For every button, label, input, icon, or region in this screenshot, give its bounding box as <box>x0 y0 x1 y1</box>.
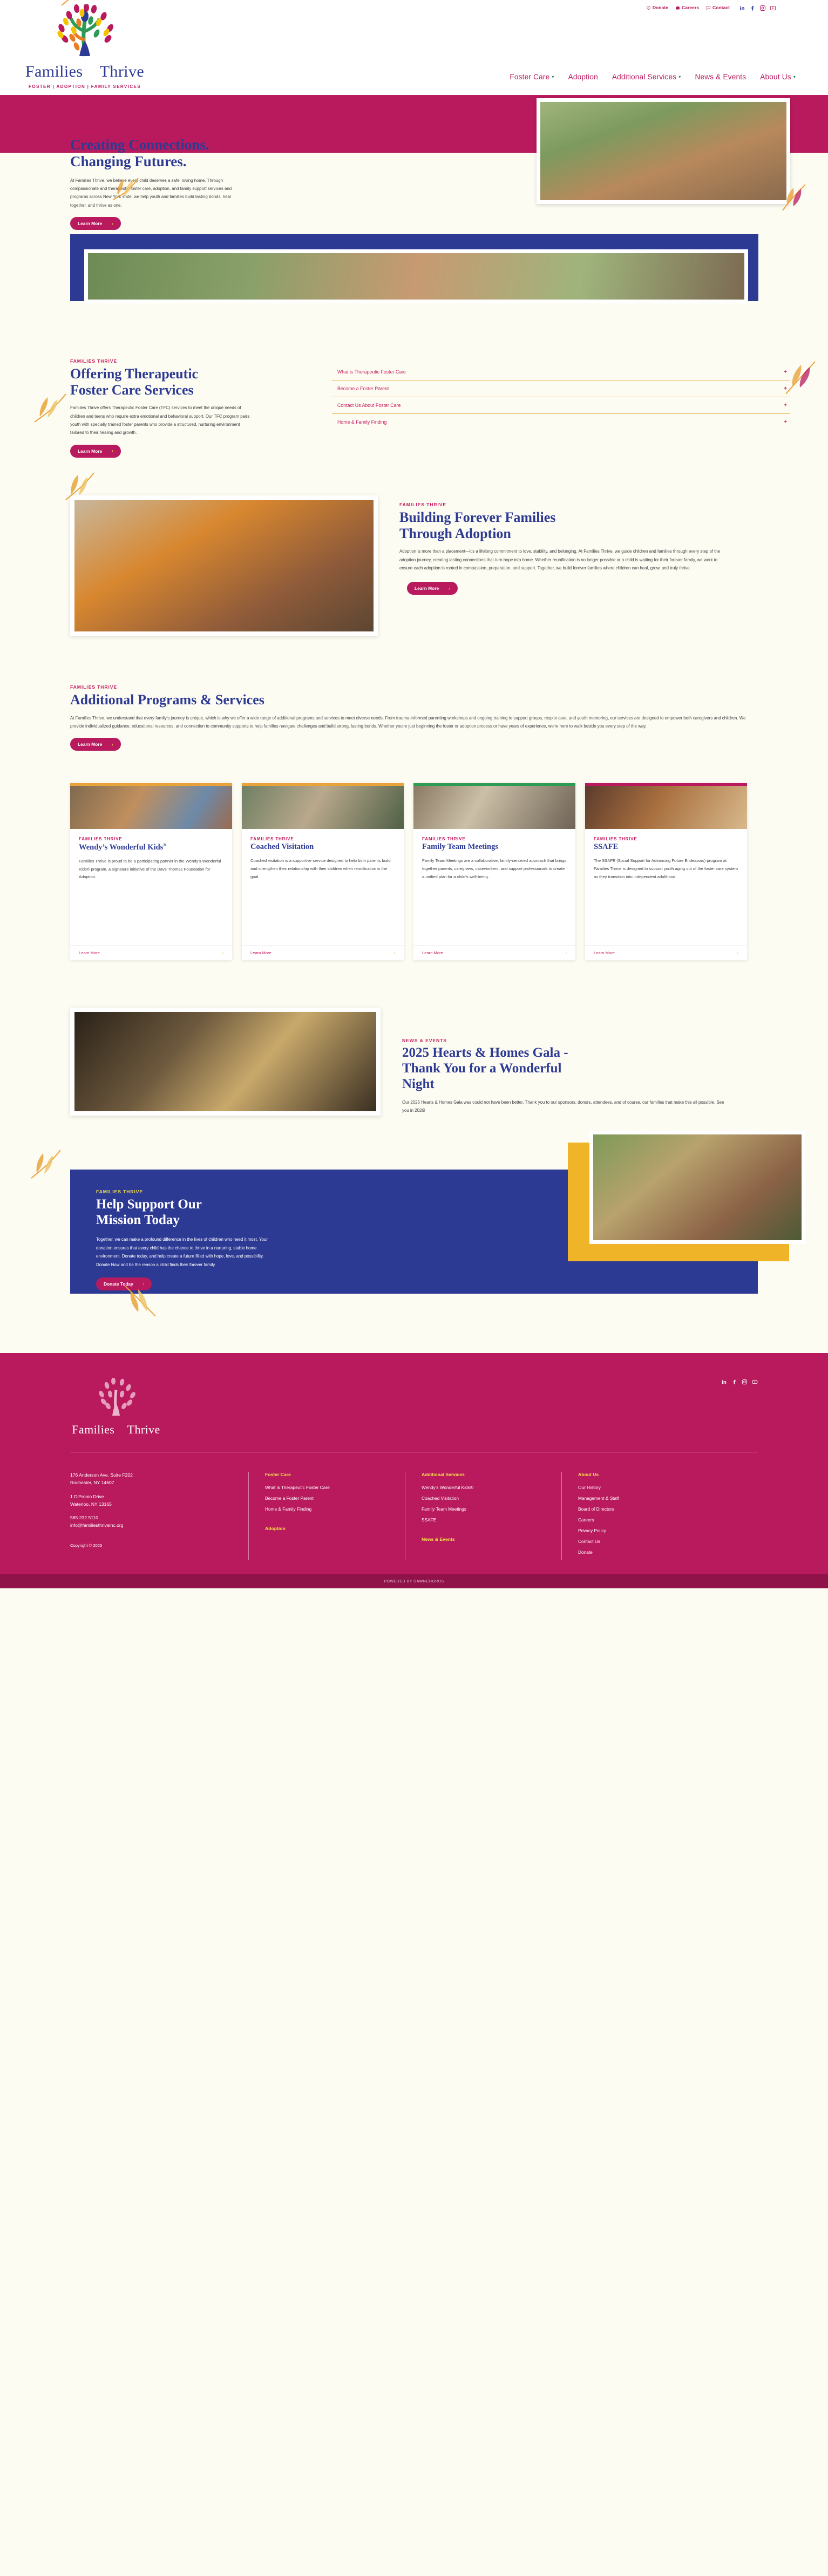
card-title: SSAFE <box>594 842 738 852</box>
card-title: Coached Visitation <box>250 842 395 852</box>
tree-logo-icon <box>70 1378 162 1420</box>
card-body: Family Team Meetings are a collaborative… <box>422 857 567 881</box>
hero-family-photo <box>540 102 786 200</box>
utility-link-donate[interactable]: Donate <box>646 5 668 10</box>
footer-attribution-bar: POWERED BY DAWNCHORUS <box>0 1574 828 1588</box>
card-body: Coached visitation is a supportive servi… <box>250 857 395 881</box>
adoption-title-line1: Building Forever Families <box>399 509 555 525</box>
leaf-decoration-icon <box>29 1148 65 1180</box>
gala-photo <box>74 1012 376 1111</box>
news-title-line3: Night <box>402 1077 435 1091</box>
tfc-copy: FAMILIES THRIVE Offering Therapeutic Fos… <box>0 358 310 458</box>
nav-label: Foster Care <box>510 73 549 81</box>
address-line-1: 176 Anderson Ave, Suite F202 <box>70 1472 248 1479</box>
plus-icon: + <box>784 385 787 392</box>
hero-title-line2: Changing Futures. <box>70 153 187 169</box>
nav-item-about-us[interactable]: About Us ▾ <box>760 73 796 81</box>
youtube-icon[interactable] <box>752 1378 758 1388</box>
card-title: Wendy’s Wonderful Kids® <box>79 842 223 852</box>
additional-programs-section: FAMILIES THRIVE Additional Programs & Se… <box>0 636 828 751</box>
button-label: Learn More <box>78 221 102 226</box>
hero-title-line1: Creating Connections. <box>70 137 209 153</box>
attribution-text: POWERED BY DAWNCHORUS <box>384 1580 444 1583</box>
site-logo[interactable]: Families Thrive FOSTER | ADOPTION | FAMI… <box>23 4 147 89</box>
adoption-body: Adoption is more than a placement—it's a… <box>399 547 723 572</box>
card-eyebrow: FAMILIES THRIVE <box>250 837 395 841</box>
footer-link-what-is-tfc[interactable]: What is Therapeutic Foster Care <box>265 1485 405 1490</box>
news-copy: NEWS & EVENTS 2025 Hearts & Homes Gala -… <box>402 1008 748 1116</box>
button-label: Donate Today <box>104 1281 133 1287</box>
footer-column-additional-services: Additional Services Wendy's Wonderful Ki… <box>405 1472 561 1560</box>
program-card-family-team-meetings[interactable]: FAMILIES THRIVE Family Team Meetings Fam… <box>413 783 575 960</box>
card-learn-more-link[interactable]: Learn More › <box>242 945 404 960</box>
donate-title-line1: Help Support Our <box>96 1197 202 1212</box>
program-card-ssafe[interactable]: FAMILIES THRIVE SSAFE The SSAFE (Social … <box>585 783 747 960</box>
adoption-copy: FAMILIES THRIVE Building Forever Familie… <box>399 495 745 636</box>
nav-item-news-events[interactable]: News & Events <box>695 73 746 81</box>
utility-label-careers: Careers <box>682 5 699 10</box>
footer-column-about-us: About Us Our History Management & Staff … <box>561 1472 718 1560</box>
social-links <box>739 4 776 11</box>
card-title: Family Team Meetings <box>422 842 567 852</box>
utility-link-careers[interactable]: Careers <box>675 5 699 10</box>
card-learn-more-link[interactable]: Learn More › <box>413 945 575 960</box>
card-title-text: SSAFE <box>594 842 618 851</box>
nav-item-foster-care[interactable]: Foster Care ▾ <box>510 73 554 81</box>
main-nav: Foster Care ▾ Adoption Additional Servic… <box>510 73 796 81</box>
chevron-right-icon: › <box>222 950 223 955</box>
adoption-title: Building Forever Families Through Adopti… <box>399 509 745 541</box>
card-learn-more-link[interactable]: Learn More › <box>585 945 747 960</box>
card-photo <box>585 786 747 829</box>
donate-image-frame <box>589 1131 805 1244</box>
tfc-title-line1: Offering Therapeutic <box>70 366 198 382</box>
card-learn-more-link[interactable]: Learn More › <box>70 945 232 960</box>
button-label: Learn More <box>415 586 439 591</box>
footer-heading-adoption[interactable]: Adoption <box>265 1526 405 1531</box>
footer-column-foster-care: Foster Care What is Therapeutic Foster C… <box>248 1472 405 1560</box>
briefcase-icon <box>675 5 680 10</box>
footer-heading-about-us[interactable]: About Us <box>578 1472 718 1477</box>
footer-link-privacy-policy[interactable]: Privacy Policy <box>578 1528 718 1533</box>
donate-copy: FAMILIES THRIVE Help Support Our Mission… <box>70 1170 394 1290</box>
footer-link-wendys-wonderful-kids[interactable]: Wendy's Wonderful Kids® <box>422 1485 561 1490</box>
additional-title: Additional Programs & Services <box>70 692 758 708</box>
footer-link-board-of-directors[interactable]: Board of Directors <box>578 1506 718 1512</box>
chevron-right-icon: › <box>112 448 113 453</box>
donate-eyebrow: FAMILIES THRIVE <box>96 1189 394 1194</box>
button-label: Learn More <box>78 448 102 454</box>
footer-heading-additional-services[interactable]: Additional Services <box>422 1472 561 1477</box>
chevron-right-icon: › <box>393 950 395 955</box>
additional-eyebrow: FAMILIES THRIVE <box>70 684 758 690</box>
card-link-label: Learn More <box>250 950 272 955</box>
hero-body: At Families Thrive, we believe every chi… <box>70 176 232 210</box>
additional-learn-more-button[interactable]: Learn More › <box>70 738 121 751</box>
site-header: Families Thrive FOSTER | ADOPTION | FAMI… <box>0 0 828 95</box>
accordion-item-home-family-finding[interactable]: Home & Family Finding + <box>332 414 790 430</box>
facebook-icon[interactable] <box>749 4 756 11</box>
footer-link-management-staff[interactable]: Management & Staff <box>578 1496 718 1501</box>
card-link-label: Learn More <box>79 950 100 955</box>
chevron-right-icon: › <box>737 950 738 955</box>
therapeutic-foster-care-section: FAMILIES THRIVE Offering Therapeutic Fos… <box>0 234 828 458</box>
chevron-down-icon: ▾ <box>552 74 554 79</box>
utility-label-donate: Donate <box>653 5 668 10</box>
accordion-item-what-is-tfc[interactable]: What is Therapeutic Foster Care + <box>332 364 790 380</box>
hero-section: FAMILIES THRIVE Creating Connections. Ch… <box>0 95 828 207</box>
card-title-text: Family Team Meetings <box>422 842 498 851</box>
nav-item-adoption[interactable]: Adoption <box>568 73 598 81</box>
utility-link-contact[interactable]: Contact <box>706 5 730 10</box>
news-events-section: NEWS & EVENTS 2025 Hearts & Homes Gala -… <box>0 1008 828 1116</box>
footer-link-ssafe[interactable]: SSAFE <box>422 1517 561 1523</box>
footer-heading-foster-care[interactable]: Foster Care <box>265 1472 405 1477</box>
footer-logo[interactable]: Families Thrive <box>70 1378 162 1436</box>
footer-logo-wordmark: Families Thrive <box>70 1424 162 1436</box>
accordion-item-become-foster-parent[interactable]: Become a Foster Parent + <box>332 380 790 397</box>
address-line-2: Rochester, NY 14607 <box>70 1479 248 1487</box>
card-body: The SSAFE (Social Support for Advancing … <box>594 857 738 881</box>
chevron-right-icon: › <box>143 1281 145 1286</box>
plus-icon: + <box>784 419 787 425</box>
footer-heading-news-events[interactable]: News & Events <box>422 1537 561 1542</box>
accordion-label: Contact Us About Foster Care <box>337 403 401 408</box>
card-title-text: Wendy’s Wonderful Kids <box>79 843 163 852</box>
footer-link-coached-visitation[interactable]: Coached Visitation <box>422 1496 561 1501</box>
plus-icon: + <box>784 402 787 409</box>
tfc-title: Offering Therapeutic Foster Care Service… <box>70 366 310 398</box>
logo-tagline: FOSTER | ADOPTION | FAMILY SERVICES <box>23 84 147 89</box>
linkedin-icon[interactable] <box>739 4 745 11</box>
program-cards: FAMILIES THRIVE Wendy’s Wonderful Kids® … <box>0 751 828 960</box>
nav-label: News & Events <box>695 73 746 81</box>
adoption-family-photo <box>74 500 374 631</box>
tree-logo-icon <box>23 4 147 63</box>
card-eyebrow: FAMILIES THRIVE <box>594 837 738 841</box>
accordion-label: What is Therapeutic Foster Care <box>337 369 406 375</box>
card-photo <box>70 786 232 829</box>
adoption-title-line2: Through Adoption <box>399 526 511 541</box>
footer-link-family-team-meetings[interactable]: Family Team Meetings <box>422 1506 561 1512</box>
logo-word-right: Thrive <box>100 63 144 80</box>
news-title: 2025 Hearts & Homes Gala - Thank You for… <box>402 1045 748 1092</box>
donate-image-stack <box>544 1150 782 1277</box>
footer-link-home-family-finding[interactable]: Home & Family Finding <box>265 1506 405 1512</box>
tfc-accordion: What is Therapeutic Foster Care + Become… <box>310 358 828 458</box>
donate-title: Help Support Our Mission Today <box>96 1197 394 1228</box>
registered-mark: ® <box>163 842 166 847</box>
address2-line-2: Waterloo, NY 13165 <box>70 1501 248 1508</box>
footer-columns: 176 Anderson Ave, Suite F202 Rochester, … <box>70 1452 758 1560</box>
adoption-learn-more-button[interactable]: Learn More › <box>407 582 458 595</box>
footer-logo-word-left: Families <box>72 1423 114 1436</box>
linkedin-icon[interactable] <box>721 1378 727 1388</box>
footer-link-careers[interactable]: Careers <box>578 1517 718 1523</box>
site-footer: Families Thrive 176 Anderson Ave, Suite … <box>0 1353 828 1574</box>
phone-number[interactable]: 585.232.5110 <box>70 1514 248 1522</box>
address-rochester: 176 Anderson Ave, Suite F202 Rochester, … <box>70 1472 248 1487</box>
button-label: Learn More <box>78 742 102 747</box>
donate-title-line2: Mission Today <box>96 1213 180 1227</box>
logo-word-left: Families <box>25 63 83 80</box>
adoption-section: FAMILIES THRIVE Building Forever Familie… <box>0 495 828 636</box>
donate-section: FAMILIES THRIVE Help Support Our Mission… <box>0 1170 828 1353</box>
footer-logo-word-right: Thrive <box>127 1423 160 1436</box>
tfc-learn-more-button[interactable]: Learn More › <box>70 445 121 458</box>
donate-photo <box>593 1134 802 1240</box>
card-photo <box>242 786 404 829</box>
contact-block: 585.232.5110 info@familiesthriveinc.org <box>70 1514 248 1530</box>
adoption-eyebrow: FAMILIES THRIVE <box>399 502 745 507</box>
accordion-label: Home & Family Finding <box>337 419 386 425</box>
chevron-down-icon: ▾ <box>793 74 796 79</box>
footer-social-links <box>721 1378 758 1388</box>
news-image-frame <box>70 1008 381 1116</box>
card-link-label: Learn More <box>594 950 615 955</box>
plus-icon: + <box>784 369 787 375</box>
card-eyebrow: FAMILIES THRIVE <box>79 837 223 841</box>
utility-nav: Donate Careers Contact <box>646 4 776 11</box>
nav-label: Additional Services <box>612 73 676 81</box>
nav-label: About Us <box>760 73 791 81</box>
chevron-down-icon: ▾ <box>678 74 681 79</box>
card-body: Families Thrive is proud to be a partici… <box>79 858 223 881</box>
donate-today-button[interactable]: Donate Today › <box>96 1277 152 1290</box>
utility-label-contact: Contact <box>712 5 730 10</box>
email-address[interactable]: info@familiesthriveinc.org <box>70 1522 248 1530</box>
card-eyebrow: FAMILIES THRIVE <box>422 837 567 841</box>
news-body: Our 2025 Hearts & Homes Gala was could n… <box>402 1098 726 1115</box>
page-title: Creating Connections. Changing Futures. <box>70 137 378 171</box>
news-title-line2: Thank You for a Wonderful <box>402 1061 561 1076</box>
chat-icon <box>706 5 711 10</box>
hero-eyebrow: FAMILIES THRIVE <box>70 128 378 134</box>
program-card-wendys-wonderful-kids[interactable]: FAMILIES THRIVE Wendy’s Wonderful Kids® … <box>70 783 232 960</box>
nav-label: Adoption <box>568 73 598 81</box>
footer-link-our-history[interactable]: Our History <box>578 1485 718 1490</box>
footer-address-block: 176 Anderson Ave, Suite F202 Rochester, … <box>70 1472 248 1560</box>
nav-item-additional-services[interactable]: Additional Services ▾ <box>612 73 681 81</box>
chevron-right-icon: › <box>112 221 113 226</box>
chevron-right-icon: › <box>565 950 567 955</box>
program-card-coached-visitation[interactable]: FAMILIES THRIVE Coached Visitation Coach… <box>242 783 404 960</box>
youtube-icon[interactable] <box>770 4 776 11</box>
card-title-text: Coached Visitation <box>250 842 314 851</box>
hero-learn-more-button[interactable]: Learn More › <box>70 217 121 230</box>
news-title-line1: 2025 Hearts & Homes Gala - <box>402 1045 568 1060</box>
logo-wordmark: Families Thrive <box>23 64 147 80</box>
copyright-text: Copyright © 2025 <box>70 1542 248 1549</box>
footer-link-contact-us[interactable]: Contact Us <box>578 1539 718 1544</box>
chevron-right-icon: › <box>449 586 450 591</box>
card-photo <box>413 786 575 829</box>
tfc-eyebrow: FAMILIES THRIVE <box>70 358 310 364</box>
accordion-item-contact-foster-care[interactable]: Contact Us About Foster Care + <box>332 397 790 414</box>
tfc-title-line2: Foster Care Services <box>70 382 194 398</box>
card-link-label: Learn More <box>422 950 443 955</box>
instagram-icon[interactable] <box>759 4 766 11</box>
tfc-body: Families Thrive offers Therapeutic Foste… <box>70 404 251 437</box>
hero-copy: FAMILIES THRIVE Creating Connections. Ch… <box>0 95 378 230</box>
donate-body: Together, we can make a profound differe… <box>96 1235 269 1269</box>
chevron-right-icon: › <box>112 742 113 747</box>
adoption-image-frame <box>70 495 378 636</box>
address-waterloo: 1 DiPronio Drive Waterloo, NY 13165 <box>70 1493 248 1508</box>
address2-line-1: 1 DiPronio Drive <box>70 1493 248 1501</box>
hero-image-frame <box>537 98 790 204</box>
page-root: Families Thrive FOSTER | ADOPTION | FAMI… <box>0 0 828 1588</box>
news-eyebrow: NEWS & EVENTS <box>402 1038 748 1043</box>
accordion-label: Become a Foster Parent <box>337 386 389 391</box>
facebook-icon[interactable] <box>731 1378 737 1388</box>
additional-body: At Families Thrive, we understand that e… <box>70 714 753 731</box>
footer-link-become-foster-parent[interactable]: Become a Foster Parent <box>265 1496 405 1501</box>
heart-icon <box>646 5 651 10</box>
donate-panel: FAMILIES THRIVE Help Support Our Mission… <box>70 1170 758 1294</box>
instagram-icon[interactable] <box>742 1378 748 1388</box>
footer-link-donate[interactable]: Donate <box>578 1549 718 1555</box>
